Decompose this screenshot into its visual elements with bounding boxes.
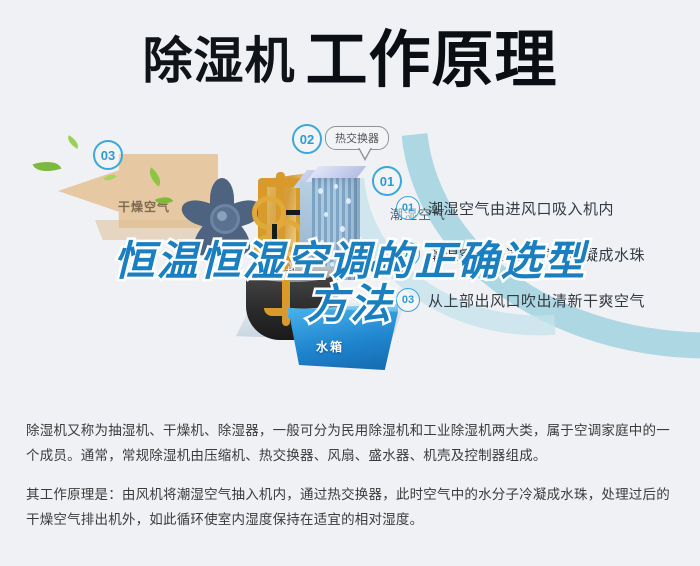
page-root: 除湿机 工作原理 干燥空气 — [0, 0, 700, 566]
flow-arrow-icon — [272, 224, 277, 242]
list-item: 03 从上部出风口吹出清新干爽空气 — [396, 288, 696, 312]
page-title: 除湿机 工作原理 — [0, 18, 700, 104]
article-body: 除湿机又称为抽湿机、干燥机、除湿器，一般可分为民用除湿机和工业除湿机两大类，属于… — [26, 418, 678, 532]
leaf-icon — [33, 156, 62, 176]
step-number: 02 — [396, 242, 420, 266]
badge-02: 02 — [292, 124, 322, 154]
step-number: 03 — [396, 288, 420, 312]
step-text: 从上部出风口吹出清新干爽空气 — [428, 290, 645, 311]
paragraph-1: 除湿机又称为抽湿机、干燥机、除湿器，一般可分为民用除湿机和工业除湿机两大类，属于… — [26, 418, 678, 468]
step-text: 潮湿空气经过蒸发器冷凝成水珠 — [428, 244, 645, 265]
compressor-label: 压缩机 — [262, 264, 298, 280]
badge-03: 03 — [93, 140, 123, 170]
list-item: 01 潮湿空气由进风口吸入机内 — [396, 196, 696, 220]
water-tank-label: 水箱 — [316, 338, 344, 355]
callout-tail-inner-icon — [359, 147, 371, 158]
page-title-part1: 除湿机 — [142, 36, 295, 86]
steps-list: 01 潮湿空气由进风口吸入机内 02 潮湿空气经过蒸发器冷凝成水珠 03 从上部… — [396, 196, 696, 334]
step-number: 01 — [396, 196, 420, 220]
heat-exchanger-callout: 热交换器 — [325, 126, 389, 150]
list-item: 02 潮湿空气经过蒸发器冷凝成水珠 — [396, 242, 696, 266]
badge-01: 01 — [372, 166, 402, 196]
leaf-icon — [65, 135, 81, 149]
step-text: 潮湿空气由进风口吸入机内 — [428, 198, 614, 219]
paragraph-2: 其工作原理是：由风机将潮湿空气抽入机内，通过热交换器，此时空气中的水分子冷凝成水… — [26, 482, 678, 532]
page-title-part2: 工作原理 — [305, 30, 557, 92]
